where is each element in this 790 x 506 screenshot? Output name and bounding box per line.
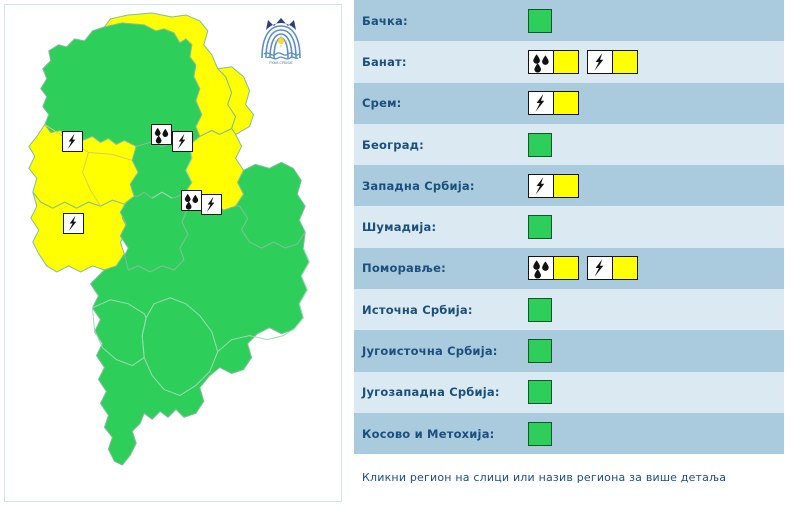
region-row-label[interactable]: Западна Србија: [362, 179, 528, 193]
region-row-label[interactable]: Београд: [362, 138, 528, 152]
region-row-badges [528, 256, 638, 280]
region-row-badges [528, 133, 552, 157]
region-row-label[interactable]: Бачка: [362, 14, 528, 28]
rain-icon [529, 51, 553, 73]
thunderstorm-icon [529, 175, 553, 197]
region-row[interactable]: Бачка: [354, 0, 784, 41]
region-row-label[interactable]: Југозападна Србија: [362, 385, 528, 399]
region-row[interactable]: Поморавље: [354, 248, 784, 289]
warning-level-yellow [553, 257, 578, 279]
region-row-badges [528, 50, 638, 74]
thunderstorm-icon [588, 257, 612, 279]
warning-level-yellow [612, 257, 637, 279]
status-swatch-green [528, 298, 552, 322]
status-swatch-green [528, 133, 552, 157]
map-frame[interactable]: РХМЗ СРБИЈЕ [4, 4, 342, 502]
region-row-badges [528, 339, 552, 363]
map-warning-icon-srem-thunder[interactable] [62, 131, 83, 152]
warning-level-yellow [553, 92, 578, 114]
region-row[interactable]: Источна Србија: [354, 289, 784, 330]
region-row-label[interactable]: Косово и Метохија: [362, 427, 528, 441]
status-swatch-green [528, 9, 552, 33]
legend-footer-text: Кликни регион на слици или назив региона… [362, 471, 726, 484]
region-row-badges [528, 215, 552, 239]
map-panel: РХМЗ СРБИЈЕ [0, 0, 346, 506]
region-row[interactable]: Југозападна Србија: [354, 372, 784, 413]
map-warning-icon-banat-rain[interactable] [151, 124, 172, 145]
map-region-istocna-srbija [236, 162, 306, 248]
thunderstorm-icon [529, 92, 553, 114]
map-region-backa [41, 23, 202, 147]
warning-badge-rain[interactable] [528, 50, 579, 74]
status-swatch-green [528, 380, 552, 404]
region-row[interactable]: Срем: [354, 83, 784, 124]
warning-level-yellow [553, 51, 578, 73]
warning-badge-rain[interactable] [528, 256, 579, 280]
region-row[interactable]: Косово и Метохија: [354, 413, 784, 454]
region-row-label[interactable]: Поморавље: [362, 261, 528, 275]
rain-icon [529, 257, 553, 279]
region-row-badges [528, 298, 552, 322]
map-region-jug [90, 204, 309, 465]
region-row[interactable]: Југоисточна Србија: [354, 330, 784, 371]
region-row-label[interactable]: Шумадија: [362, 220, 528, 234]
region-row[interactable]: Банат: [354, 41, 784, 82]
legend-footer: Кликни регион на слици или назив региона… [354, 454, 784, 500]
map-warning-icon-banat-thunder[interactable] [172, 131, 193, 152]
region-row-label[interactable]: Банат: [362, 55, 528, 69]
region-row-list: Бачка:Банат:Срем:Београд:Западна Србија:… [354, 0, 784, 454]
region-row-label[interactable]: Источна Србија: [362, 303, 528, 317]
region-row-badges [528, 380, 552, 404]
region-row-badges [528, 174, 579, 198]
svg-text:РХМЗ СРБИЈЕ: РХМЗ СРБИЈЕ [269, 61, 293, 65]
warning-level-yellow [612, 51, 637, 73]
map-warning-icon-pomoravlje-rain[interactable] [181, 190, 202, 211]
region-row-badges [528, 91, 579, 115]
rhmz-logo: РХМЗ СРБИЈЕ [258, 14, 304, 66]
region-row-label[interactable]: Срем: [362, 96, 528, 110]
warning-badge-thunderstorm[interactable] [587, 50, 638, 74]
region-row[interactable]: Београд: [354, 124, 784, 165]
map-warning-icon-pomoravlje-thunder[interactable] [201, 194, 222, 215]
status-swatch-green [528, 215, 552, 239]
map-region-sumadija [120, 192, 188, 272]
serbia-map[interactable] [5, 5, 341, 501]
warning-badge-thunderstorm[interactable] [528, 91, 579, 115]
warning-badge-thunderstorm[interactable] [528, 174, 579, 198]
status-swatch-green [528, 422, 552, 446]
status-swatch-green [528, 339, 552, 363]
region-row-label[interactable]: Југоисточна Србија: [362, 344, 528, 358]
region-legend-panel: Бачка:Банат:Срем:Београд:Западна Србија:… [346, 0, 790, 506]
region-row[interactable]: Западна Србија: [354, 165, 784, 206]
warning-map-page: РХМЗ СРБИЈЕ [0, 0, 790, 506]
thunderstorm-icon [588, 51, 612, 73]
region-row-badges [528, 9, 552, 33]
region-row-badges [528, 422, 552, 446]
warning-badge-thunderstorm[interactable] [587, 256, 638, 280]
region-row[interactable]: Шумадија: [354, 206, 784, 247]
map-warning-icon-zapadna-thunder[interactable] [63, 213, 84, 234]
warning-level-yellow [553, 175, 578, 197]
